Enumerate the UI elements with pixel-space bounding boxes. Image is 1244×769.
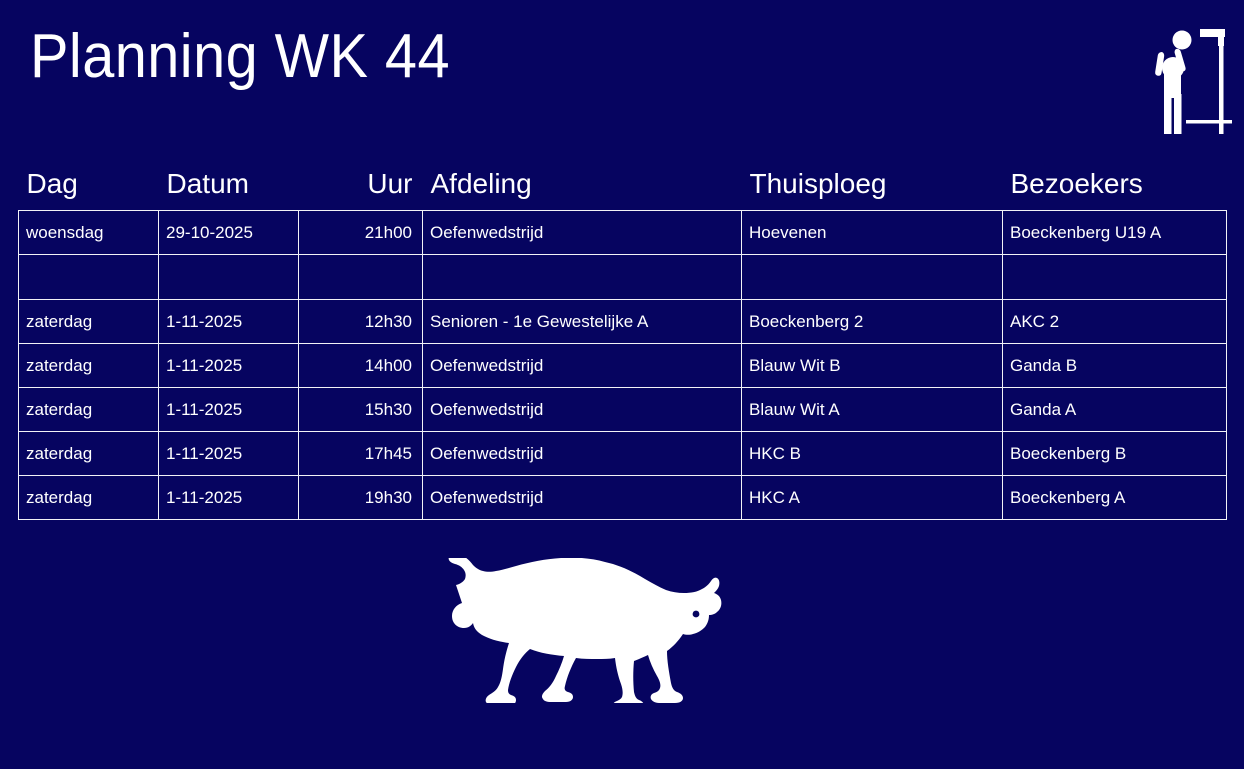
column-header-thuisploeg: Thuisploeg: [742, 168, 1003, 211]
cell-afdeling: [423, 255, 742, 300]
cell-dag: zaterdag: [19, 344, 159, 388]
cell-bezoek: Boeckenberg A: [1003, 476, 1227, 520]
cell-uur: 19h30: [299, 476, 423, 520]
cell-dag: woensdag: [19, 211, 159, 255]
cell-bezoek: [1003, 255, 1227, 300]
cell-bezoek: Boeckenberg B: [1003, 432, 1227, 476]
column-header-uur: Uur: [299, 168, 423, 211]
cell-datum: 1-11-2025: [159, 388, 299, 432]
cell-thuis: Blauw Wit B: [742, 344, 1003, 388]
panther-logo-icon: [448, 558, 744, 703]
table-row: woensdag29-10-202521h00OefenwedstrijdHoe…: [19, 211, 1227, 255]
column-header-afdeling: Afdeling: [423, 168, 742, 211]
slide-canvas: Planning WK 44: [0, 0, 1244, 769]
cell-thuis: [742, 255, 1003, 300]
cell-datum: 1-11-2025: [159, 432, 299, 476]
cell-uur: 12h30: [299, 300, 423, 344]
cell-dag: zaterdag: [19, 388, 159, 432]
cell-datum: [159, 255, 299, 300]
cell-thuis: HKC A: [742, 476, 1003, 520]
cell-thuis: HKC B: [742, 432, 1003, 476]
korfball-player-icon: [1152, 16, 1232, 134]
table-body: woensdag29-10-202521h00OefenwedstrijdHoe…: [19, 211, 1227, 520]
cell-dag: [19, 255, 159, 300]
cell-bezoek: Boeckenberg U19 A: [1003, 211, 1227, 255]
cell-datum: 1-11-2025: [159, 344, 299, 388]
cell-uur: [299, 255, 423, 300]
cell-datum: 1-11-2025: [159, 300, 299, 344]
cell-bezoek: Ganda B: [1003, 344, 1227, 388]
cell-uur: 17h45: [299, 432, 423, 476]
cell-uur: 15h30: [299, 388, 423, 432]
table-row: zaterdag1-11-202517h45OefenwedstrijdHKC …: [19, 432, 1227, 476]
cell-bezoek: AKC 2: [1003, 300, 1227, 344]
column-header-dag: Dag: [19, 168, 159, 211]
schedule-table: Dag Datum Uur Afdeling Thuisploeg Bezoek…: [18, 168, 1227, 520]
cell-dag: zaterdag: [19, 476, 159, 520]
cell-afdeling: Oefenwedstrijd: [423, 388, 742, 432]
cell-datum: 1-11-2025: [159, 476, 299, 520]
table-header-row: Dag Datum Uur Afdeling Thuisploeg Bezoek…: [19, 168, 1227, 211]
table-row: zaterdag1-11-202514h00OefenwedstrijdBlau…: [19, 344, 1227, 388]
cell-bezoek: Ganda A: [1003, 388, 1227, 432]
cell-afdeling: Senioren - 1e Gewestelijke A: [423, 300, 742, 344]
cell-afdeling: Oefenwedstrijd: [423, 344, 742, 388]
table-spacer-row: [19, 255, 1227, 300]
table-row: zaterdag1-11-202515h30OefenwedstrijdBlau…: [19, 388, 1227, 432]
cell-afdeling: Oefenwedstrijd: [423, 432, 742, 476]
table-row: zaterdag1-11-202519h30OefenwedstrijdHKC …: [19, 476, 1227, 520]
cell-datum: 29-10-2025: [159, 211, 299, 255]
table-row: zaterdag1-11-202512h30Senioren - 1e Gewe…: [19, 300, 1227, 344]
page-title: Planning WK 44: [30, 24, 450, 89]
cell-dag: zaterdag: [19, 432, 159, 476]
cell-uur: 14h00: [299, 344, 423, 388]
cell-thuis: Boeckenberg 2: [742, 300, 1003, 344]
schedule-table-container: Dag Datum Uur Afdeling Thuisploeg Bezoek…: [18, 168, 1226, 520]
cell-afdeling: Oefenwedstrijd: [423, 211, 742, 255]
cell-thuis: Blauw Wit A: [742, 388, 1003, 432]
table-header: Dag Datum Uur Afdeling Thuisploeg Bezoek…: [19, 168, 1227, 211]
column-header-bezoekers: Bezoekers: [1003, 168, 1227, 211]
cell-uur: 21h00: [299, 211, 423, 255]
cell-dag: zaterdag: [19, 300, 159, 344]
column-header-datum: Datum: [159, 168, 299, 211]
cell-afdeling: Oefenwedstrijd: [423, 476, 742, 520]
cell-thuis: Hoevenen: [742, 211, 1003, 255]
